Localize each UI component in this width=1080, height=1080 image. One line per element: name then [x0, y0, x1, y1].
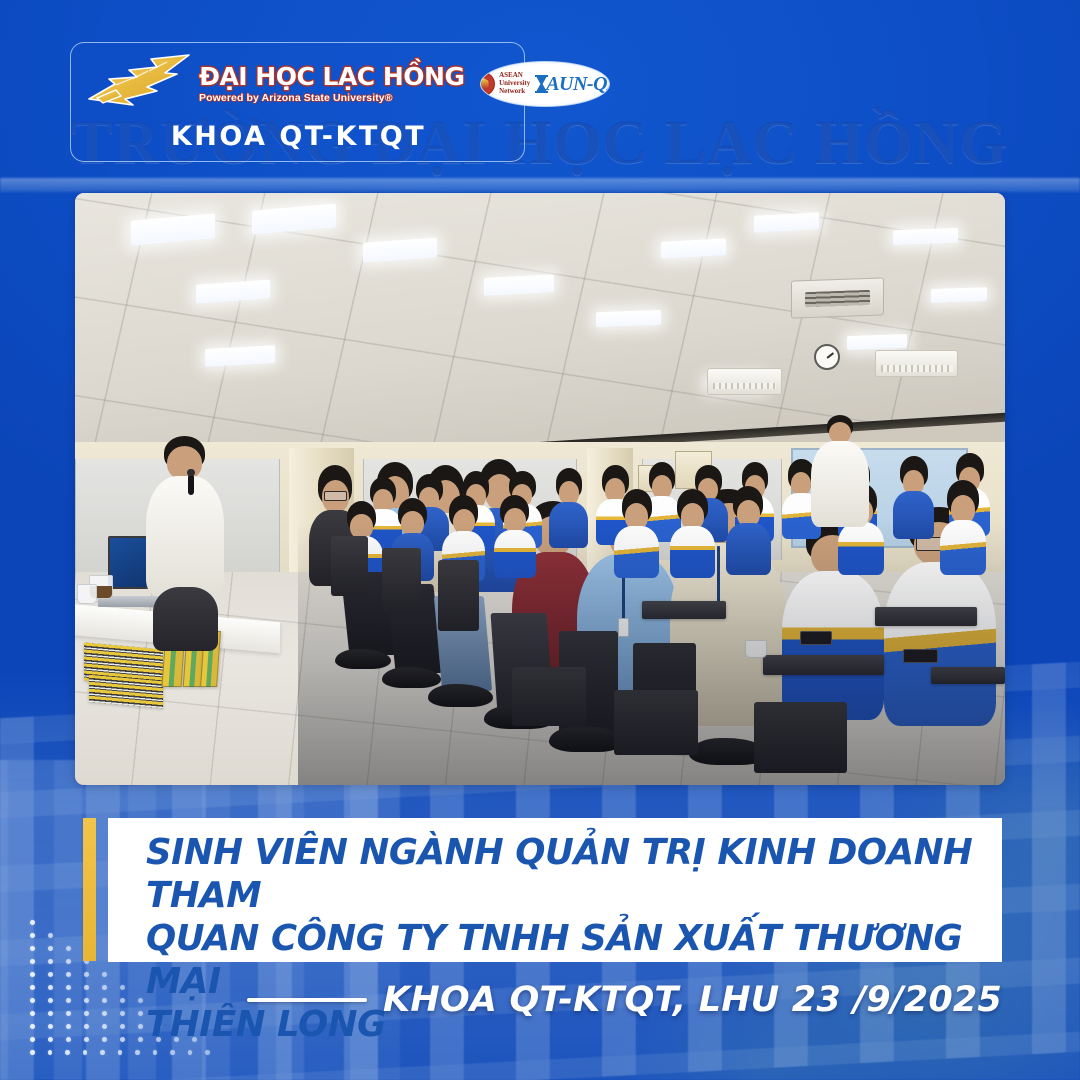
dot — [30, 920, 35, 925]
dot — [66, 946, 71, 951]
staff-shirt — [811, 441, 869, 528]
university-wordmark: ĐẠI HỌC LẠC HỒNG Powered by Arizona Stat… — [199, 64, 464, 104]
dot — [84, 1037, 89, 1042]
ceiling-panel-light — [893, 227, 958, 245]
dot — [205, 1050, 210, 1055]
asean-university-network-label: ASEAN University Network — [499, 72, 530, 95]
wall-air-conditioner — [875, 350, 959, 377]
lac-hong-gold-arrow-logo — [85, 51, 197, 117]
event-photo — [75, 193, 1005, 785]
header-logo-panel: ĐẠI HỌC LẠC HỒNG Powered by Arizona Stat… — [70, 42, 525, 162]
dot — [66, 1037, 71, 1042]
poster-canvas: TRƯỜNG ĐẠI HỌC LẠC HỒNG — [0, 0, 1080, 1080]
dot — [30, 946, 35, 951]
university-name: ĐẠI HỌC LẠC HỒNG — [199, 64, 464, 90]
dot — [48, 1037, 53, 1042]
faculty-label: KHOA QT-KTQT — [71, 121, 526, 152]
dot — [48, 972, 53, 977]
footer-credit-text: KHOA QT-KTQT, LHU 23 /9/2025 — [383, 980, 1002, 1020]
ceiling-air-conditioner — [791, 277, 884, 319]
dot — [48, 1050, 53, 1055]
header-logo-row: ĐẠI HỌC LẠC HỒNG Powered by Arizona Stat… — [71, 49, 526, 119]
microphone — [188, 474, 193, 495]
ceiling-panel-light — [484, 274, 554, 295]
speaker-with-microphone — [140, 436, 233, 649]
dot — [30, 1037, 35, 1042]
dot — [138, 1024, 143, 1029]
ceiling-panel-light — [847, 334, 907, 350]
dot — [188, 1050, 193, 1055]
dot — [48, 1024, 53, 1029]
dot — [65, 1050, 70, 1055]
university-tagline: Powered by Arizona State University® — [199, 92, 464, 104]
dot — [30, 1024, 35, 1029]
title-accent-bar — [83, 818, 96, 961]
wall-air-conditioner — [707, 368, 781, 395]
dot — [30, 1050, 35, 1055]
dot — [138, 1037, 143, 1042]
ceiling-panel-light — [205, 345, 275, 366]
dot — [135, 1050, 140, 1055]
dot — [102, 1037, 107, 1042]
dot — [48, 933, 53, 938]
drink-cup — [77, 584, 97, 604]
dot — [102, 972, 107, 977]
dot — [66, 959, 71, 964]
background-horizontal-band — [0, 178, 1080, 192]
dot — [84, 1024, 89, 1029]
aun-qa-label-group: AUN-QA — [534, 73, 610, 96]
dot — [84, 972, 89, 977]
standing-staff-member — [810, 415, 870, 527]
staff-head — [829, 422, 851, 443]
crowd-shadow-overlay — [298, 519, 1005, 785]
dot — [120, 1024, 125, 1029]
dot — [48, 946, 53, 951]
dot-row — [30, 1046, 210, 1059]
dot — [66, 1024, 71, 1029]
dot — [30, 933, 35, 938]
speaker-trousers — [153, 587, 218, 651]
asean-university-network-seal-icon — [480, 72, 495, 96]
dot — [66, 972, 71, 977]
ceiling-panel-light — [931, 287, 987, 303]
dot — [170, 1050, 175, 1055]
dot — [102, 1024, 107, 1029]
aun-qa-accreditation-badge: ASEAN University Network AUN-QA — [480, 61, 610, 107]
footer-credit-row: KHOA QT-KTQT, LHU 23 /9/2025 — [0, 980, 1080, 1020]
dot — [120, 1037, 125, 1042]
footer-divider-dash — [247, 998, 367, 1002]
dot — [83, 1050, 88, 1055]
poster-title-line-1: SINH VIÊN NGÀNH QUẢN TRỊ KINH DOANH THAM — [146, 832, 984, 918]
dot — [153, 1050, 158, 1055]
event-photo-scene — [75, 193, 1005, 785]
eyeglasses — [324, 491, 346, 500]
dot — [118, 1050, 123, 1055]
dot — [48, 959, 53, 964]
dot — [30, 972, 35, 977]
title-panel: SINH VIÊN NGÀNH QUẢN TRỊ KINH DOANH THAM… — [108, 818, 1002, 962]
dot — [30, 959, 35, 964]
dot — [100, 1050, 105, 1055]
speaker-shirt — [146, 476, 224, 595]
aun-qa-label: AUN-QA — [546, 73, 610, 96]
